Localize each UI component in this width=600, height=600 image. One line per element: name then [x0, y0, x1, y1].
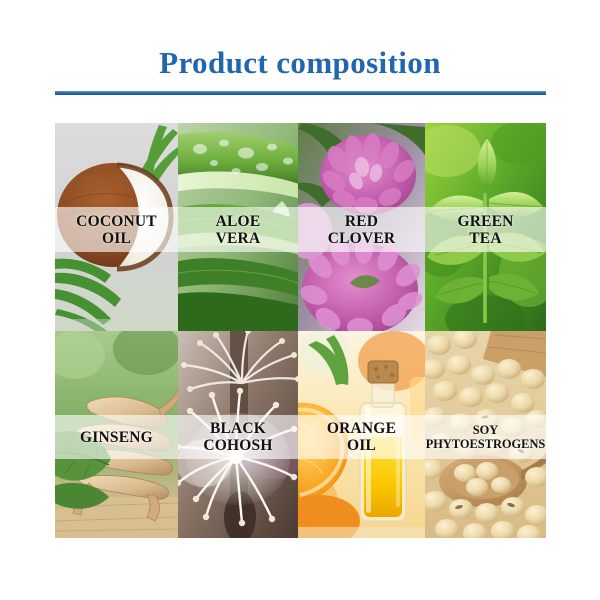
- ingredient-label-ginseng: GINSENG: [80, 429, 153, 446]
- page-title: Product composition: [0, 44, 600, 82]
- ingredient-cell-ginseng[interactable]: GINSENG: [55, 331, 178, 538]
- ingredient-label-red-clover: RED CLOVER: [328, 213, 396, 247]
- ingredient-cell-soy-phytoestrogens[interactable]: SOY PHYTOESTROGENS: [425, 331, 546, 538]
- ingredient-label-band: COCONUT OIL: [55, 207, 178, 252]
- ingredient-cell-green-tea[interactable]: GREEN TEA: [425, 123, 546, 331]
- ingredient-cell-red-clover[interactable]: RED CLOVER: [298, 123, 425, 331]
- ingredient-label-orange-oil: ORANGE OIL: [327, 420, 396, 454]
- ingredient-label-band: BLACK COHOSH: [178, 415, 298, 460]
- ingredient-label-green-tea: GREEN TEA: [457, 213, 513, 247]
- ingredient-label-soy-phytoestrogens: SOY PHYTOESTROGENS: [426, 423, 546, 451]
- ingredient-label-band: ORANGE OIL: [298, 415, 425, 460]
- ingredient-label-coconut-oil: COCONUT OIL: [76, 213, 157, 247]
- ingredient-label-band: GINSENG: [55, 415, 178, 460]
- title-divider: [55, 91, 546, 95]
- ingredient-cell-orange-oil[interactable]: ORANGE OIL: [298, 331, 425, 538]
- ingredient-label-black-cohosh: BLACK COHOSH: [203, 420, 272, 454]
- ingredient-cell-coconut-oil[interactable]: COCONUT OIL: [55, 123, 178, 331]
- ingredient-label-band: GREEN TEA: [425, 207, 546, 252]
- ingredient-grid: COCONUT OIL: [55, 123, 546, 538]
- ingredient-label-band: ALOE VERA: [178, 207, 298, 252]
- product-composition-page: Product composition: [0, 0, 600, 600]
- ingredient-label-band: SOY PHYTOESTROGENS: [425, 415, 546, 460]
- header: Product composition: [0, 0, 600, 110]
- ingredient-cell-black-cohosh[interactable]: BLACK COHOSH: [178, 331, 298, 538]
- ingredient-cell-aloe-vera[interactable]: ALOE VERA: [178, 123, 298, 331]
- ingredient-label-aloe-vera: ALOE VERA: [216, 213, 261, 247]
- ingredient-label-band: RED CLOVER: [298, 207, 425, 252]
